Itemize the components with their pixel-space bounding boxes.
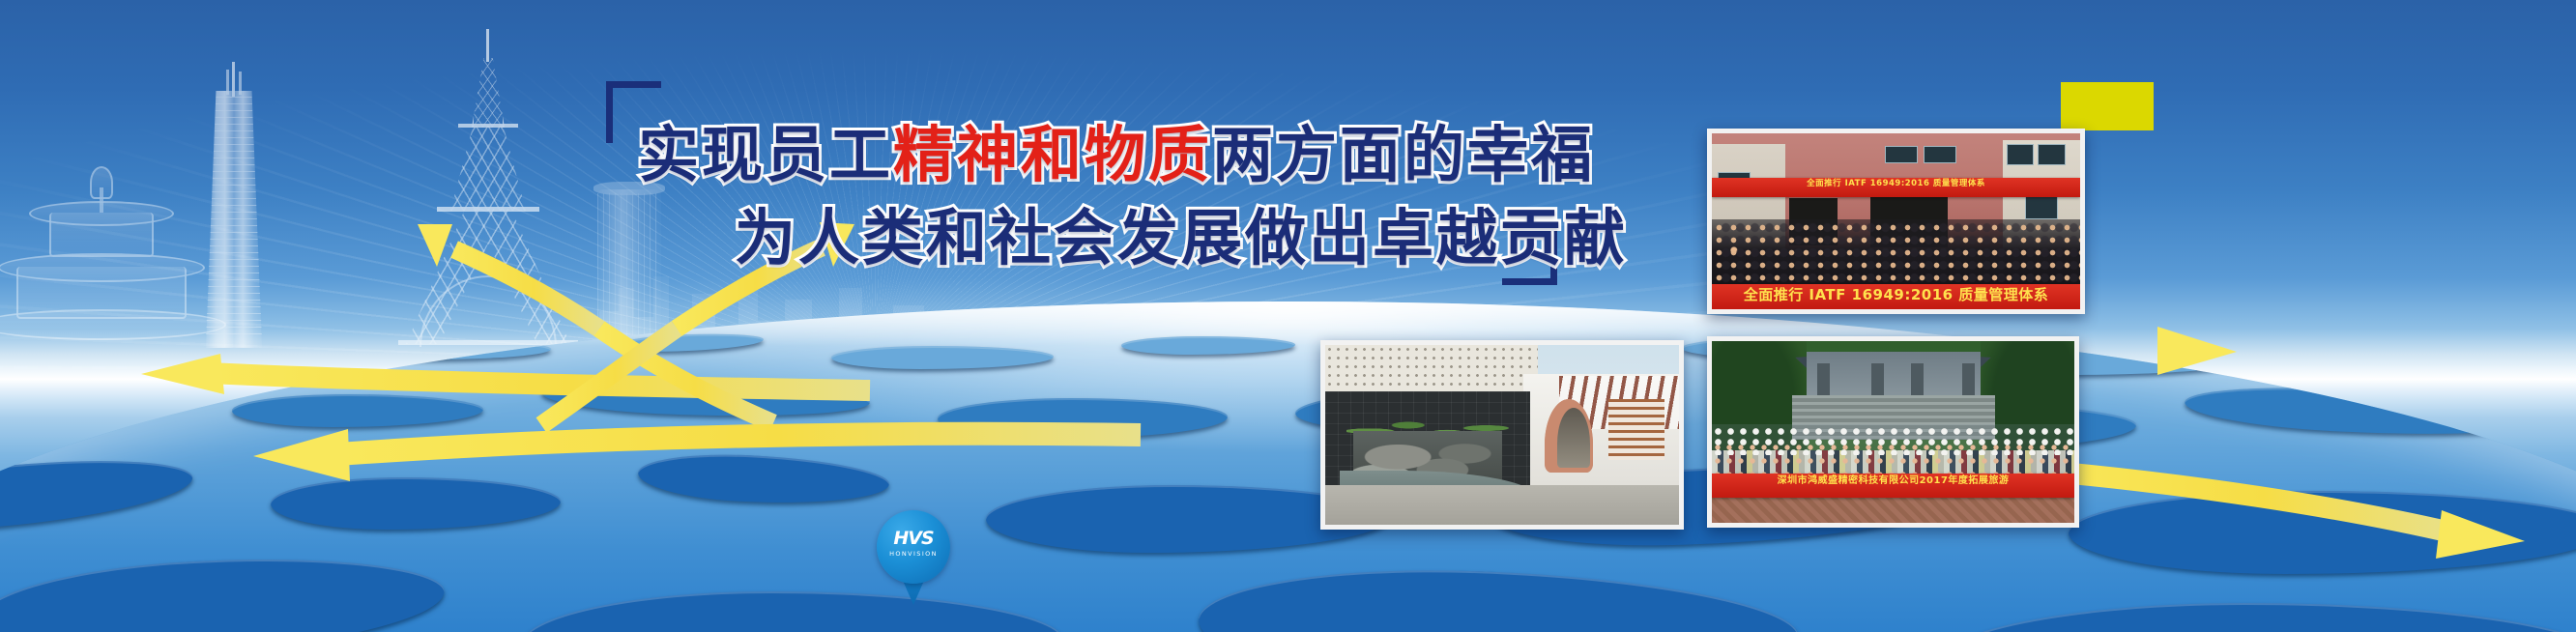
slogan-line1-part2: 两方面的幸福 [1212,120,1595,190]
company-garden-courtyard-photo [1320,340,1684,530]
outing-banner: 深圳市鸿威盛精密科技有限公司2017年度拓展旅游 [1712,474,2074,497]
yellow-accent-rectangle [2061,82,2154,130]
logo-wordmark: HONVISION [877,550,950,558]
company-outing-2017-group-photo: 深圳市鸿威盛精密科技有限公司2017年度拓展旅游 [1707,336,2079,528]
logo-mark: HVS [877,530,950,548]
eiffel-tower-icon [387,29,590,348]
slogan-line1-part1: 实现员工 [638,120,893,190]
slogan-line-1: 实现员工精神和物质两方面的幸福 [638,106,1595,194]
hero-banner: 全面推行 IATF 16949:2016 质量管理体系 全面推行 IATF 16… [0,0,2576,632]
atmosphere-glow [0,302,2576,346]
iatf-certification-group-photo: 全面推行 IATF 16949:2016 质量管理体系 全面推行 IATF 16… [1707,129,2085,314]
slogan-line-2: 为人类和社会发展做出卓越贡献 [735,189,1628,277]
slogan-line1-highlight: 精神和物质 [893,120,1212,190]
iatf-banner-bottom: 全面推行 IATF 16949:2016 质量管理体系 [1712,284,2080,309]
iatf-banner-top: 全面推行 IATF 16949:2016 质量管理体系 [1712,178,2080,197]
honvision-map-pin-logo[interactable]: HVS HONVISION [877,510,950,607]
pin-label: HVS HONVISION [877,530,950,558]
